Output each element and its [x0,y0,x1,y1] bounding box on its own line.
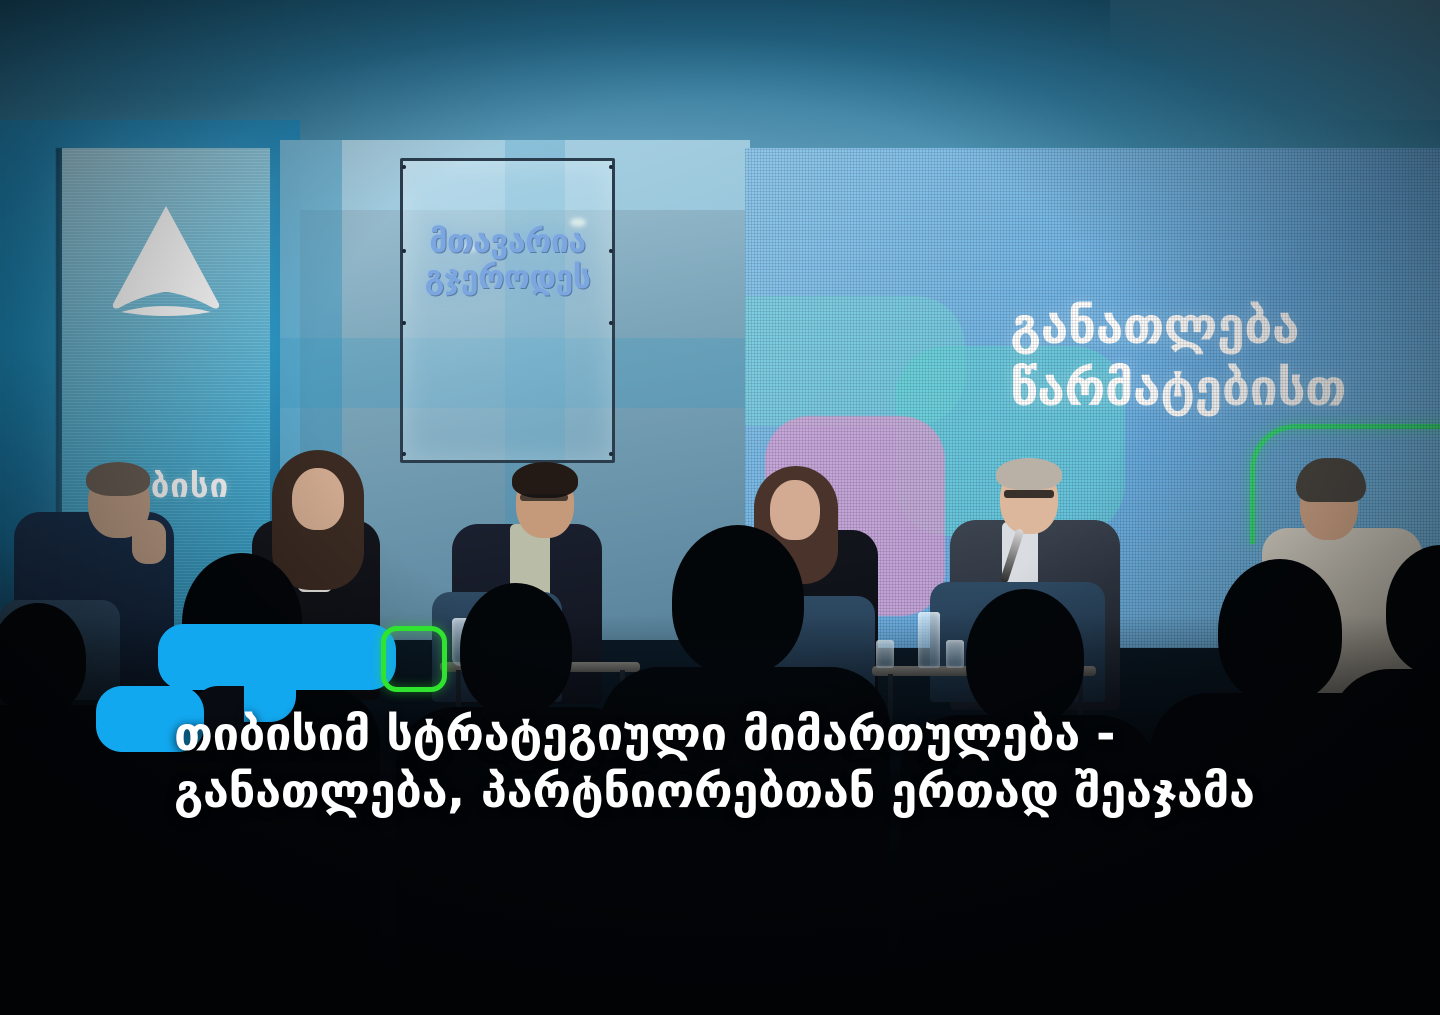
drinking-glass [876,640,894,668]
page-title: თიბისიმ სტრატეგიული მიმართულება - განათლ… [174,706,1404,821]
headline-line1: თიბისიმ სტრატეგიული მიმართულება - [174,706,1404,763]
glass-sign-frame: მთავარია გჯეროდეს [400,158,615,463]
glass-sign-text: მთავარია გჯეროდეს [403,224,612,296]
drinking-glass [946,640,964,668]
drinking-glass [492,636,511,666]
tbc-triangle-logo-icon [106,200,226,322]
glass-sign-line2: გჯეროდეს [403,260,612,296]
drinking-glass [918,612,940,668]
event-banner-image: თიბისი მთავარია გჯეროდეს განათლება წარმა… [0,0,1440,1015]
glass-sign-line1: მთავარია [403,224,612,260]
eyeglasses-icon [1004,490,1054,498]
drinking-glass [516,636,535,666]
eyeglasses-icon [520,494,568,501]
chair [720,596,875,706]
green-rounded-square-outline [381,626,447,692]
headline-line2: განათლება, პარტნიორებთან ერთად შეაჯამა [174,763,1404,820]
side-table [872,666,1096,676]
water-pitcher [452,618,480,666]
